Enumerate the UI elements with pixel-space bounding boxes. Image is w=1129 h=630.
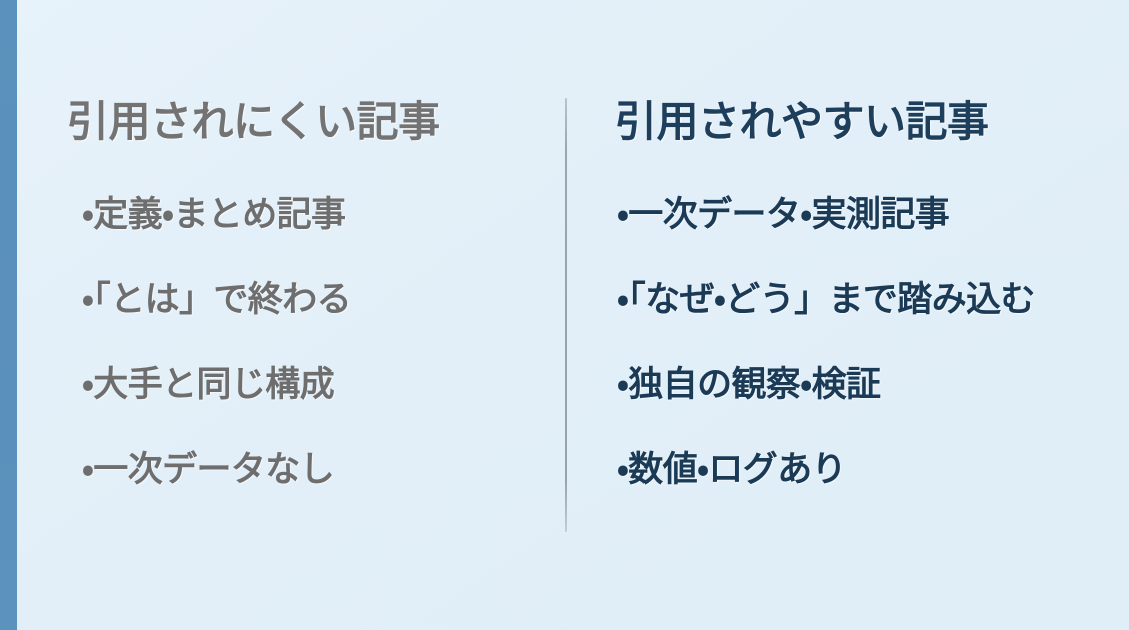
list-item: ・独自の観察・検証 [615,368,1115,403]
list-item: ・大手と同じ構成 [67,368,541,403]
column-title-easy-to-cite: 引用されやすい記事 [615,101,1115,143]
column-easy-to-cite: 引用されやすい記事 ・一次データ・実測記事 ・「なぜ・どう」まで踏み込む ・独自… [565,0,1129,630]
slide-content: 引用されにくい記事 ・定義・まとめ記事 ・「とは」で終わる ・大手と同じ構成 ・… [17,0,1129,630]
list-item: ・一次データなし [67,453,541,488]
column-divider [565,98,567,532]
slide-canvas: 引用されにくい記事 ・定義・まとめ記事 ・「とは」で終わる ・大手と同じ構成 ・… [0,0,1129,630]
bullet-list-hard-to-cite: ・定義・まとめ記事 ・「とは」で終わる ・大手と同じ構成 ・一次データなし [67,198,541,488]
column-title-hard-to-cite: 引用されにくい記事 [67,101,541,143]
list-item: ・数値・ログあり [615,453,1115,488]
list-item: ・「なぜ・どう」まで踏み込む [615,283,1115,318]
list-item: ・「とは」で終わる [67,283,541,318]
list-item: ・一次データ・実測記事 [615,198,1115,233]
left-accent-bar [0,0,17,630]
column-hard-to-cite: 引用されにくい記事 ・定義・まとめ記事 ・「とは」で終わる ・大手と同じ構成 ・… [17,0,565,630]
bullet-list-easy-to-cite: ・一次データ・実測記事 ・「なぜ・どう」まで踏み込む ・独自の観察・検証 ・数値… [615,198,1115,488]
list-item: ・定義・まとめ記事 [67,198,541,233]
